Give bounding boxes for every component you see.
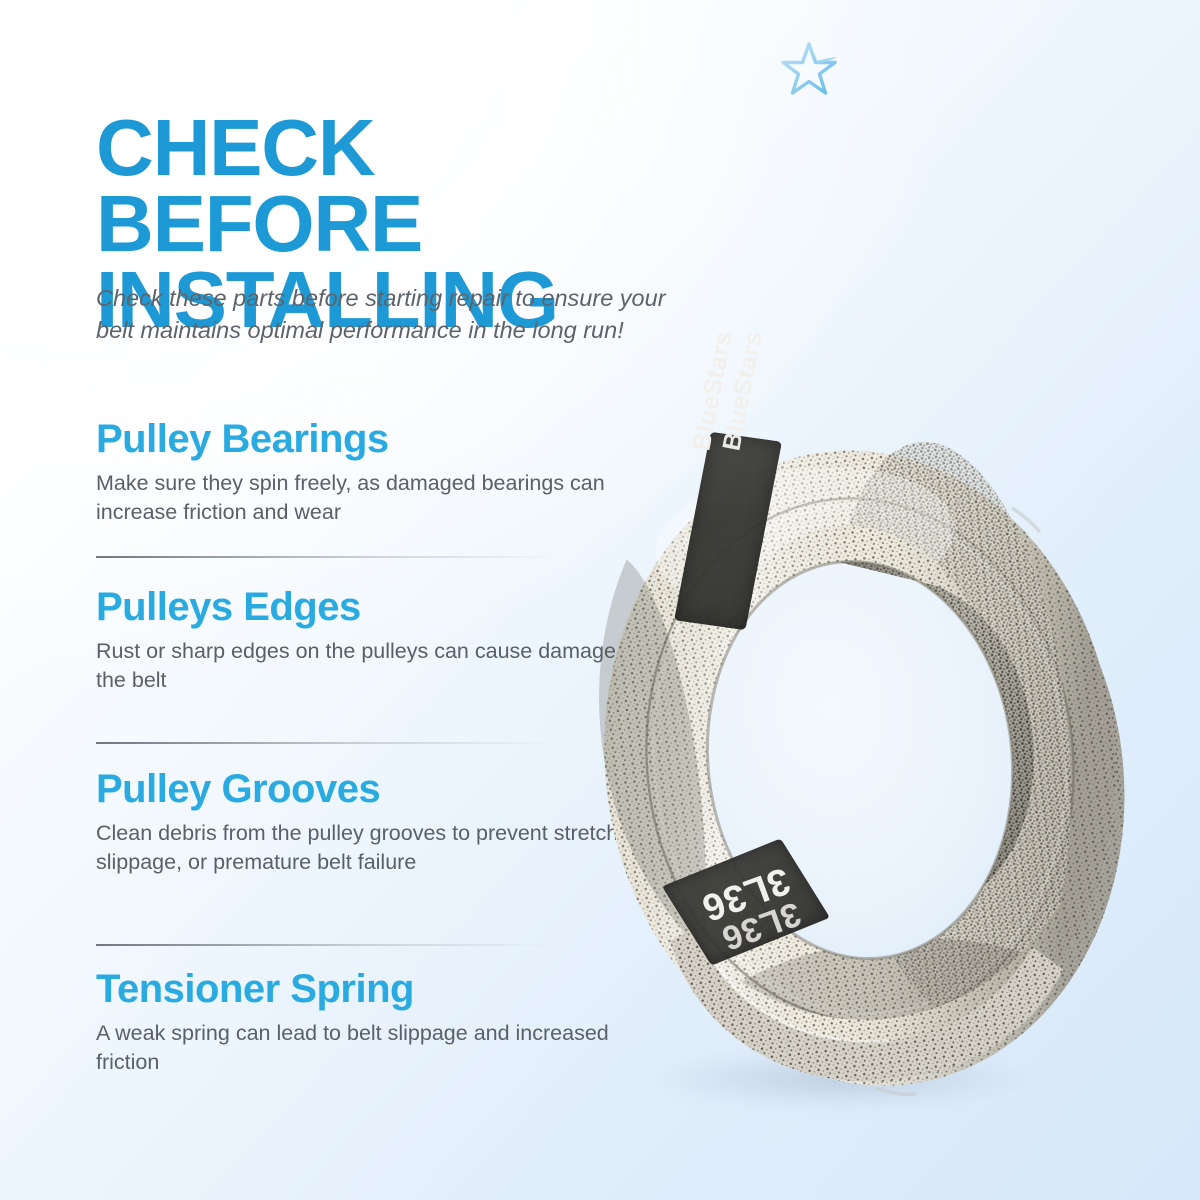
- feature-divider: [96, 742, 558, 744]
- subtitle-text: Check these parts before starting repair…: [96, 282, 696, 347]
- infographic-canvas: CHECK BEFORE INSTALLING Check these part…: [0, 0, 1200, 1200]
- feature-divider: [96, 556, 558, 558]
- feature-divider: [96, 944, 558, 946]
- belt-illustration: [560, 360, 1160, 1160]
- star-icon: [778, 40, 840, 102]
- product-image-v-belt: BlueStars BlueStars 3L36 3L36: [560, 360, 1160, 1160]
